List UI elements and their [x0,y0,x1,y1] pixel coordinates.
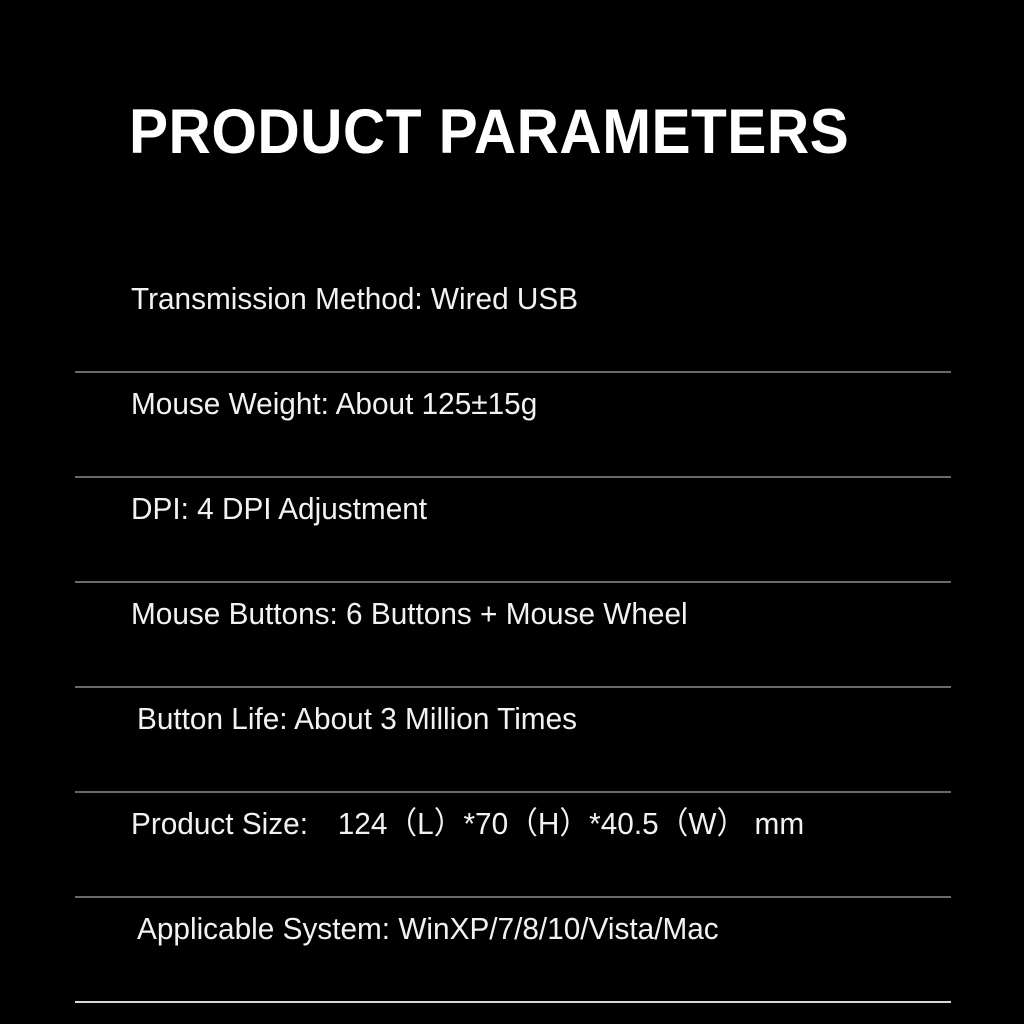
table-row: Product Size: 124（L）*70（H）*40.5（W） mm [0,793,1024,898]
parameter-product-size: Product Size: 124（L）*70（H）*40.5（W） mm [131,805,950,843]
table-row: Transmission Method: Wired USB [0,268,1024,373]
parameter-button-life: Button Life: About 3 Million Times [137,700,950,738]
parameter-applicable-system: Applicable System: WinXP/7/8/10/Vista/Ma… [137,910,950,948]
table-row: Mouse Weight: About 125±15g [0,373,1024,478]
page-title: PRODUCT PARAMETERS [129,97,836,167]
product-parameters-sheet: PRODUCT PARAMETERS Transmission Method: … [0,0,1024,1024]
table-row: Button Life: About 3 Million Times [0,688,1024,793]
table-row: Applicable System: WinXP/7/8/10/Vista/Ma… [0,898,1024,1003]
parameter-table: Transmission Method: Wired USB Mouse Wei… [0,268,1024,1003]
row-divider [75,1001,951,1003]
table-row: DPI: 4 DPI Adjustment [0,478,1024,583]
parameter-mouse-weight: Mouse Weight: About 125±15g [131,385,950,423]
parameter-mouse-buttons: Mouse Buttons: 6 Buttons + Mouse Wheel [131,595,950,633]
parameter-dpi: DPI: 4 DPI Adjustment [131,490,950,528]
parameter-transmission-method: Transmission Method: Wired USB [131,280,950,318]
table-row: Mouse Buttons: 6 Buttons + Mouse Wheel [0,583,1024,688]
